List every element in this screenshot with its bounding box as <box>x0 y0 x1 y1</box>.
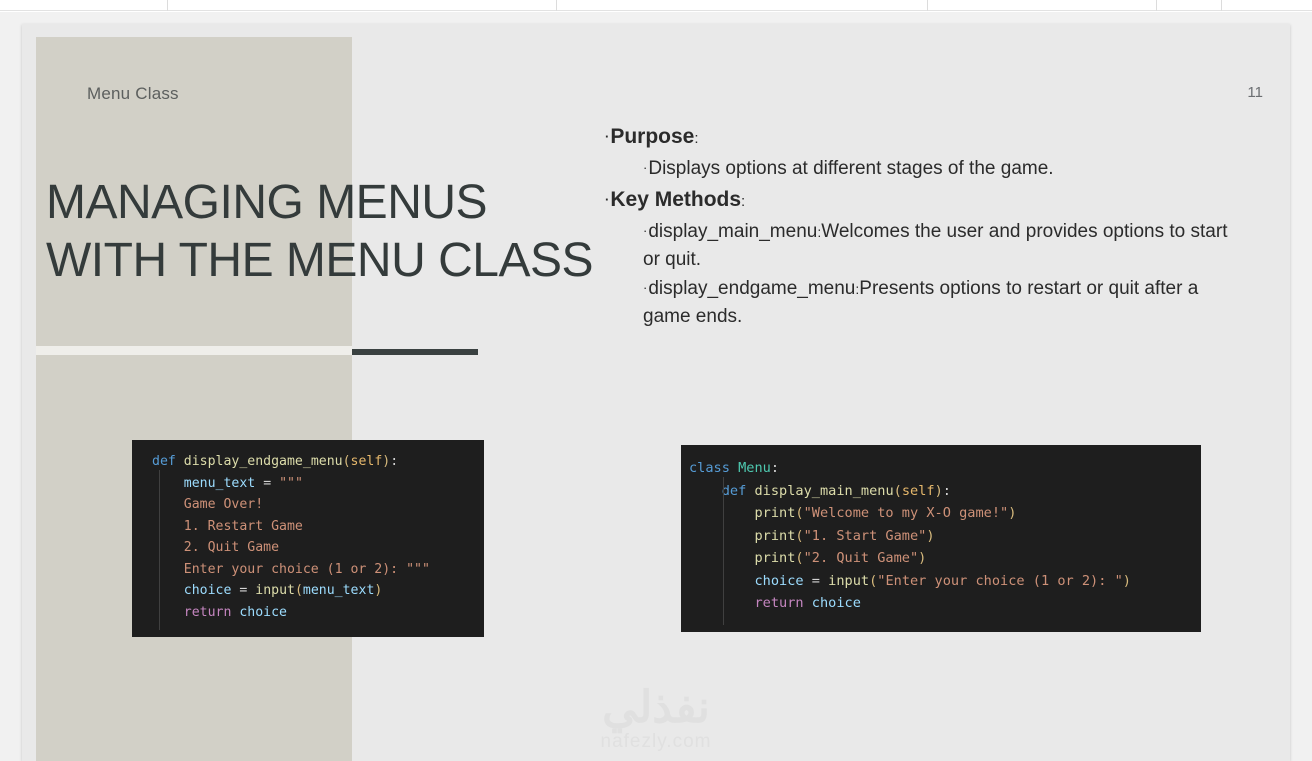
slide-page-number: 11 <box>1247 84 1263 101</box>
bullet-marker-icon: · <box>643 223 647 238</box>
bullet-marker-icon: · <box>605 129 609 144</box>
bullet-purpose-detail-text: Displays options at different stages of … <box>648 158 1053 179</box>
slide-accent-band-gap <box>36 346 352 355</box>
bullet-purpose-detail: ·Displays options at different stages of… <box>643 154 1245 183</box>
bullet-key-methods: ·Key Methods: <box>605 185 1245 217</box>
code-line: def display_endgame_menu(self): <box>152 454 398 469</box>
bullet-key-methods-label: Key Methods <box>610 188 741 211</box>
toolbar-divider-3 <box>927 0 928 11</box>
code-line: 2. Quit Game <box>152 540 279 555</box>
bullet-marker-icon: · <box>643 160 647 175</box>
code-line: menu_text = """ <box>152 476 303 491</box>
code-line: class Menu: <box>689 460 779 476</box>
code-line: print("Welcome to my X-O game!") <box>689 505 1016 521</box>
slide[interactable]: Menu Class 11 MANAGING MENUS WITH THE ME… <box>22 24 1290 761</box>
code-block-display-endgame-menu[interactable]: def display_endgame_menu(self): menu_tex… <box>132 440 484 637</box>
slide-title: MANAGING MENUS WITH THE MENU CLASS <box>46 174 616 290</box>
slide-accent-band <box>36 37 352 761</box>
code-line: Game Over! <box>152 497 263 512</box>
code-line: choice = input("Enter your choice (1 or … <box>689 573 1131 589</box>
method-name-display-endgame-menu: display_endgame_menu <box>648 278 855 299</box>
bullet-marker-icon: · <box>643 280 647 295</box>
bullet-display-main-menu: ·display_main_menu:Welcomes the user and… <box>643 217 1245 274</box>
code-line: return choice <box>152 605 287 620</box>
bullet-purpose-colon: : <box>694 130 698 147</box>
bullet-marker-icon: · <box>605 192 609 207</box>
bullet-key-methods-colon: : <box>741 193 745 210</box>
title-underline-rule <box>352 349 478 355</box>
method-name-display-main-menu: display_main_menu <box>648 221 817 242</box>
code-line: Enter your choice (1 or 2): """ <box>152 562 430 577</box>
code-block-menu-class[interactable]: class Menu: def display_main_menu(self):… <box>681 445 1201 632</box>
body-bullets: ·Purpose: ·Displays options at different… <box>605 120 1245 331</box>
slide-kicker: Menu Class <box>87 84 179 104</box>
bullet-purpose: ·Purpose: <box>605 122 1245 154</box>
toolbar-divider-2 <box>556 0 557 11</box>
code-line: 1. Restart Game <box>152 519 303 534</box>
code-line: return choice <box>689 595 861 611</box>
indent-guide <box>723 477 724 625</box>
code-line: print("1. Start Game") <box>689 528 935 544</box>
indent-guide <box>159 470 160 630</box>
code-line: print("2. Quit Game") <box>689 550 926 566</box>
code-line: def display_main_menu(self): <box>689 483 951 499</box>
code-line: choice = input(menu_text) <box>152 583 382 598</box>
bullet-purpose-label: Purpose <box>610 125 694 148</box>
toolbar-divider-1 <box>167 0 168 11</box>
bullet-display-endgame-menu: ·display_endgame_menu:Presents options t… <box>643 274 1245 331</box>
toolbar-divider-4 <box>1156 0 1157 11</box>
toolbar-strip <box>0 0 1312 11</box>
toolbar-divider-5 <box>1221 0 1222 11</box>
